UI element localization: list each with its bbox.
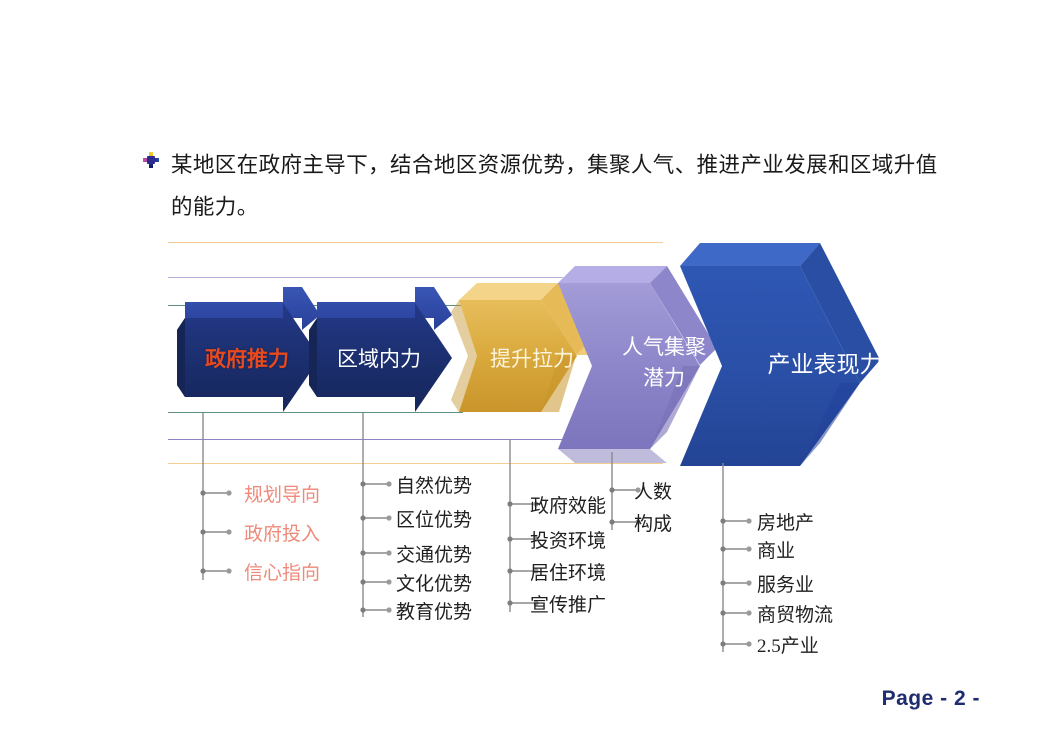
detail-item-regional-strength-1: 区位优势 <box>396 505 472 532</box>
connector-dot <box>200 568 205 573</box>
detail-item-government-push-2: 信心指向 <box>244 558 320 585</box>
connector-dot <box>386 579 391 584</box>
detail-item-uplift-pull-0: 政府效能 <box>530 491 606 518</box>
detail-item-government-push-0: 规划导向 <box>244 480 320 507</box>
connector-dot <box>360 607 365 612</box>
connector-dot <box>386 550 391 555</box>
connector-dot <box>507 600 512 605</box>
connector-dot <box>226 568 231 573</box>
connector-dot <box>746 546 751 551</box>
connector-dot <box>386 607 391 612</box>
connector-dot <box>507 501 512 506</box>
detail-connectors <box>0 0 1052 744</box>
detail-item-regional-strength-3: 文化优势 <box>396 569 472 596</box>
connector-dot <box>507 536 512 541</box>
connector-dot <box>720 518 725 523</box>
detail-item-uplift-pull-2: 居住环境 <box>530 558 606 585</box>
connector-dot <box>746 610 751 615</box>
detail-item-regional-strength-0: 自然优势 <box>396 471 472 498</box>
detail-item-industry-performance-3: 商贸物流 <box>757 600 833 627</box>
detail-item-industry-performance-2: 服务业 <box>757 570 814 597</box>
detail-item-regional-strength-2: 交通优势 <box>396 540 472 567</box>
connector-dot <box>720 641 725 646</box>
detail-item-industry-performance-1: 商业 <box>757 536 795 563</box>
connector-dot <box>360 579 365 584</box>
detail-item-popularity-potential-0: 人数 <box>634 477 672 504</box>
connector-dot <box>746 518 751 523</box>
connector-dot <box>360 550 365 555</box>
detail-group-regional-strength <box>360 412 391 617</box>
connector-dot <box>720 546 725 551</box>
detail-group-government-push <box>200 412 231 580</box>
detail-item-regional-strength-4: 教育优势 <box>396 597 472 624</box>
connector-dot <box>200 529 205 534</box>
connector-dot <box>720 610 725 615</box>
connector-dot <box>609 519 614 524</box>
connector-dot <box>386 481 391 486</box>
connector-dot <box>360 481 365 486</box>
detail-item-industry-performance-0: 房地产 <box>757 508 814 535</box>
connector-dot <box>507 568 512 573</box>
slide-canvas: 某地区在政府主导下，结合地区资源优势，集聚人气、推进产业发展和区域升值的能力。 <box>0 0 1052 744</box>
connector-dot <box>226 490 231 495</box>
connector-dot <box>386 515 391 520</box>
connector-dot <box>746 641 751 646</box>
detail-item-industry-performance-4: 2.5产业 <box>757 631 819 658</box>
connector-dot <box>226 529 231 534</box>
detail-item-popularity-potential-1: 构成 <box>634 509 672 536</box>
connector-dot <box>360 515 365 520</box>
detail-item-government-push-1: 政府投入 <box>244 519 320 546</box>
connector-dot <box>746 580 751 585</box>
detail-item-uplift-pull-3: 宣传推广 <box>530 590 606 617</box>
connector-dot <box>200 490 205 495</box>
page-number: Page - 2 - <box>882 687 980 711</box>
detail-item-uplift-pull-1: 投资环境 <box>530 526 606 553</box>
connector-dot <box>609 487 614 492</box>
connector-dot <box>720 580 725 585</box>
detail-group-industry-performance <box>720 463 751 652</box>
